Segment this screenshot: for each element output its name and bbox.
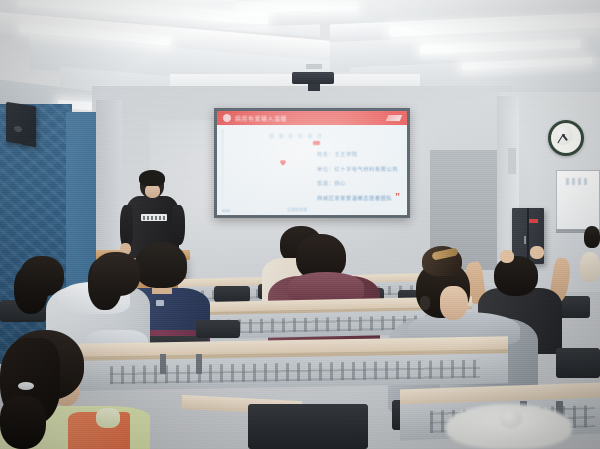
slide-banner-swoosh-icon xyxy=(386,115,402,121)
chair-back xyxy=(248,404,368,449)
slide-body-lines: 姓名：王王学院 单位：红十字电气材料有限公司 签送：刻心 西城区家家爱温暖志愿者… xyxy=(317,151,401,209)
chair-back xyxy=(556,348,600,378)
jacket-logo xyxy=(156,300,164,306)
student-hand xyxy=(500,250,514,263)
slide-line: 姓名：王王学院 xyxy=(317,151,401,158)
slide-line: 签送：刻心 xyxy=(317,180,401,187)
air-vent xyxy=(508,148,516,174)
presenter-arm xyxy=(172,205,185,245)
student-hand xyxy=(530,246,544,259)
hoodie-hood xyxy=(288,272,364,302)
earphone-icon xyxy=(420,296,430,310)
slide-subtitle: 感 谢 有 你 相 伴 xyxy=(269,133,324,140)
chair-back xyxy=(196,320,240,338)
student-navy-jacket-head xyxy=(135,242,187,288)
hair-tie-icon xyxy=(18,382,34,390)
student-white-hoodie-head xyxy=(92,252,140,296)
clock-center-pin xyxy=(562,134,565,137)
presenter-face xyxy=(145,184,160,198)
cabinet-label xyxy=(529,219,538,223)
slide-banner-title: 病房有爱输入温暖 xyxy=(235,114,287,123)
slide-line: 单位：红十字电气材料有限公司 xyxy=(317,166,401,173)
heart-icon xyxy=(279,159,287,166)
hoodie-hood xyxy=(96,408,120,428)
presenter-hair xyxy=(139,170,165,186)
slide-page-number: 4/15 xyxy=(222,208,230,213)
slide-logo-icon xyxy=(223,114,231,122)
heart-icon xyxy=(313,141,320,145)
slide-canvas: 病房有爱输入温暖 感 谢 有 你 相 伴 姓名：王王学院 单位：红十字电气材料有… xyxy=(217,111,407,215)
lecture-hall-photo: 病房有爱输入温暖 感 谢 有 你 相 伴 姓名：王王学院 单位：红十字电气材料有… xyxy=(0,0,600,449)
slide-line: 西城区家家爱温暖志愿者团队 xyxy=(317,195,401,202)
slide-footer-title: 汉语优秀课 xyxy=(287,207,307,213)
cabinet-handle xyxy=(524,236,526,244)
cabinet-door-seam xyxy=(527,208,529,264)
student-far-right-head xyxy=(584,226,600,248)
ponytail xyxy=(0,396,46,449)
slide-left-accent xyxy=(221,129,224,207)
tshirt-print-text xyxy=(143,216,165,220)
whiteboard-writing xyxy=(566,178,590,185)
projection-screen: 病房有爱输入温暖 感 谢 有 你 相 伴 姓名：王王学院 单位：红十字电气材料有… xyxy=(214,108,410,218)
projector-mount xyxy=(306,64,322,69)
desk-leg xyxy=(196,354,202,374)
student-black-tee-head xyxy=(494,256,538,296)
projector-icon xyxy=(292,72,334,84)
slide-quote-mark: ” xyxy=(395,192,400,203)
student-face xyxy=(440,286,468,320)
slide-banner: 病房有爱输入温暖 xyxy=(217,111,407,125)
student-far-right-head xyxy=(580,252,600,282)
desk-leg xyxy=(160,354,166,374)
chair-back xyxy=(214,286,250,302)
hair-knot xyxy=(500,410,522,428)
